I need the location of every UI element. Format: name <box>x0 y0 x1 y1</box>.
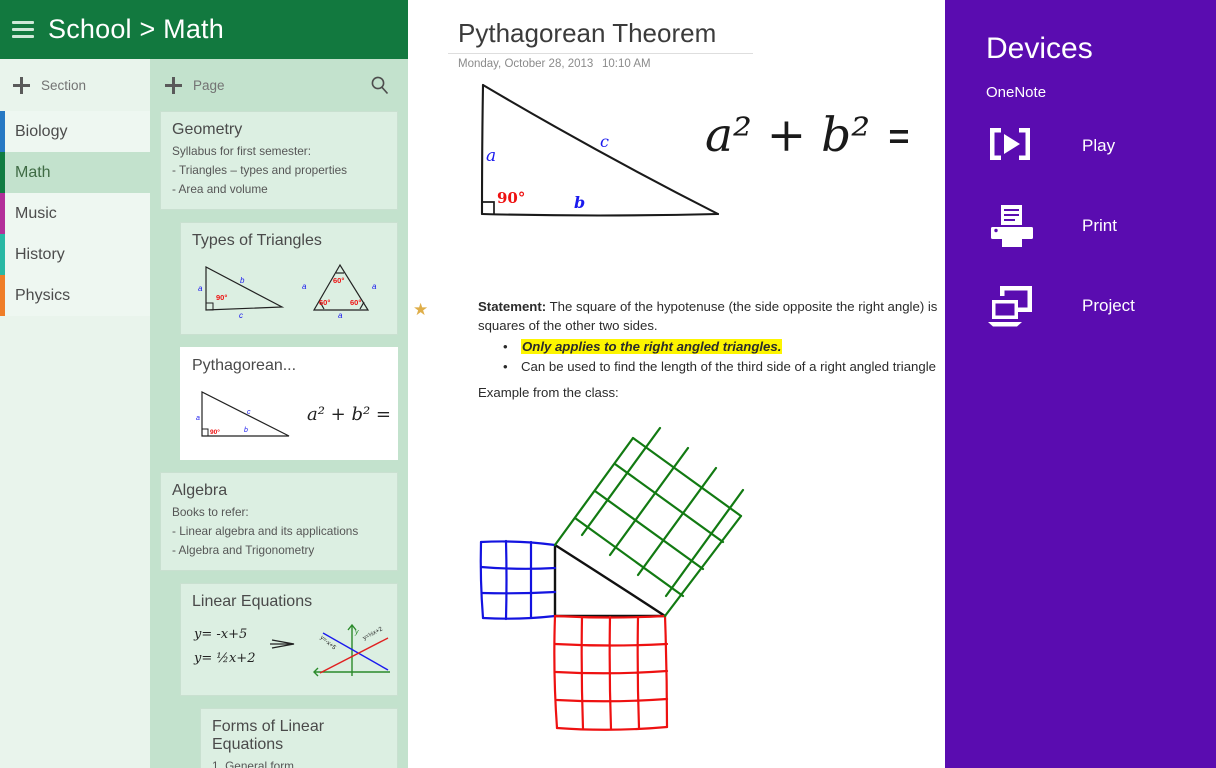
title-divider <box>448 53 753 54</box>
devices-app-name: OneNote <box>986 84 1046 101</box>
page-card-line: Syllabus for first semester: <box>172 142 386 161</box>
page-card-title: Forms of Linear Equations <box>212 718 386 754</box>
printer-icon <box>986 200 1038 252</box>
page-card-line: - Triangles – types and properties <box>172 161 386 180</box>
statement-line1: The square of the hypotenuse (the side o… <box>546 299 937 314</box>
svg-text:y=½x+2: y=½x+2 <box>362 625 385 642</box>
device-label: Print <box>1082 216 1117 236</box>
device-item-print[interactable]: Print <box>986 200 1117 252</box>
section-color-bar <box>0 193 5 234</box>
add-page-row: Page <box>150 59 408 111</box>
right-triangle-drawing: a c b 90° <box>448 75 738 240</box>
device-label: Play <box>1082 136 1115 156</box>
device-item-play[interactable]: Play <box>986 120 1115 172</box>
svg-text:b: b <box>574 193 585 212</box>
page-card-line: - Area and volume <box>172 180 386 199</box>
sidebar-item-history[interactable]: History <box>0 234 150 275</box>
project-screen-icon <box>986 280 1038 332</box>
hamburger-icon[interactable] <box>12 21 34 38</box>
svg-text:a² + b² = c²: a² + b² = c² <box>307 404 392 425</box>
svg-text:c: c <box>247 409 251 416</box>
svg-text:90°: 90° <box>210 428 220 436</box>
svg-text:90°: 90° <box>497 189 525 207</box>
list-item: Only applies to the right angled triangl… <box>501 337 945 357</box>
device-item-project[interactable]: Project <box>986 280 1135 332</box>
list-item[interactable]: Forms of Linear Equations 1. General for… <box>200 708 398 768</box>
statement-bullets: Only applies to the right angled triangl… <box>501 337 945 377</box>
svg-text:y= -x+5: y= -x+5 <box>193 627 247 642</box>
sidebar-item-label: History <box>15 246 65 264</box>
sidebar-item-math[interactable]: Math <box>0 152 150 193</box>
sidebar-item-physics[interactable]: Physics <box>0 275 150 316</box>
statement-label: Statement: <box>478 299 546 314</box>
star-icon: ★ <box>413 301 431 319</box>
svg-text:c: c <box>239 311 243 319</box>
svg-text:a: a <box>372 282 377 291</box>
sidebar-item-label: Math <box>15 164 51 182</box>
breadcrumb: School > Math <box>48 14 224 45</box>
page-title[interactable]: Pythagorean Theorem <box>458 18 716 49</box>
page-card-title: Geometry <box>172 121 386 139</box>
sidebar-item-biology[interactable]: Biology <box>0 111 150 152</box>
section-color-bar <box>0 275 5 316</box>
svg-text:a: a <box>338 311 343 319</box>
svg-text:a: a <box>486 146 496 166</box>
devices-title: Devices <box>986 32 1093 66</box>
statement-text: Statement: The square of the hypotenuse … <box>478 297 945 335</box>
devices-charm-panel: Devices OneNote Play Print <box>945 0 1216 768</box>
list-item[interactable]: Geometry Syllabus for first semester: - … <box>160 111 398 210</box>
bullet-text: Can be used to find the length of the th… <box>521 359 936 374</box>
section-color-bar <box>0 152 5 193</box>
device-label: Project <box>1082 296 1135 316</box>
svg-text:a: a <box>302 282 307 291</box>
example-label: Example from the class: <box>478 385 619 400</box>
triangle-formula-thumbnail: a c b 90° a² + b² = c² <box>192 382 392 444</box>
svg-text:60°: 60° <box>333 276 344 285</box>
onenote-app-window: School > Math Section Biology Math Music… <box>0 0 1216 768</box>
page-card-title: Algebra <box>172 482 386 500</box>
page-date: Monday, October 28, 2013 <box>458 58 593 70</box>
plus-icon <box>13 77 30 94</box>
sidebar-item-label: Physics <box>15 287 70 305</box>
section-color-bar <box>0 234 5 275</box>
page-list-panel: Page Geometry Syllabus for first semeste… <box>150 59 408 768</box>
statement-line2: squares of the other two sides. <box>478 316 945 335</box>
linear-graph-thumbnail: y= -x+5 y= ½x+2 y=-x+5 y=½x+2 y <box>192 618 397 680</box>
sidebar-item-music[interactable]: Music <box>0 193 150 234</box>
sidebar-item-label: Music <box>15 205 57 223</box>
page-card-title: Linear Equations <box>192 593 386 611</box>
pythagorean-squares-drawing <box>443 420 763 760</box>
note-page-canvas[interactable]: Pythagorean Theorem Monday, October 28, … <box>408 0 945 768</box>
svg-text:a: a <box>196 415 200 422</box>
page-card-title: Pythagorean... <box>192 357 386 375</box>
page-card-line: Books to refer: <box>172 503 386 522</box>
highlighted-bullet-text: Only applies to the right angled triangl… <box>521 339 782 354</box>
list-item: Can be used to find the length of the th… <box>501 357 945 377</box>
page-card-title: Types of Triangles <box>192 232 386 250</box>
two-triangles-thumbnail: a b c 90° a a a 60° 60° 60° <box>192 257 392 319</box>
svg-text:60°: 60° <box>319 298 330 307</box>
search-icon[interactable] <box>370 75 390 95</box>
svg-text:60°: 60° <box>350 298 361 307</box>
play-device-icon <box>986 120 1038 172</box>
page-card-line: - Algebra and Trigonometry <box>172 541 386 560</box>
svg-text:90°: 90° <box>216 293 227 302</box>
page-card-line: - Linear algebra and its applications <box>172 522 386 541</box>
list-item[interactable]: Linear Equations y= -x+5 y= ½x+2 y=-x+5 … <box>180 583 398 696</box>
add-section-button[interactable]: Section <box>0 59 150 111</box>
svg-text:c: c <box>600 132 609 151</box>
svg-text:y: y <box>354 629 359 636</box>
svg-text:y=-x+5: y=-x+5 <box>319 635 337 652</box>
section-color-bar <box>0 111 5 152</box>
add-page-label: Page <box>193 78 225 93</box>
list-item[interactable]: Types of Triangles a b c 90° a a a <box>180 222 398 335</box>
svg-text:a: a <box>198 284 203 293</box>
svg-text:b: b <box>244 427 248 434</box>
list-item[interactable]: Algebra Books to refer: - Linear algebra… <box>160 472 398 571</box>
svg-text:a² + b² = c²: a² + b² = c² <box>705 108 908 163</box>
app-title-bar: School > Math <box>0 0 410 59</box>
page-time: 10:10 AM <box>602 58 651 70</box>
plus-icon[interactable] <box>165 77 182 94</box>
add-section-label: Section <box>41 78 86 93</box>
pythagorean-formula-ink: a² + b² = c² <box>703 95 908 167</box>
svg-text:y= ½x+2: y= ½x+2 <box>193 651 255 666</box>
section-list-panel: Section Biology Math Music History Physi… <box>0 59 150 768</box>
sidebar-item-label: Biology <box>15 123 67 141</box>
list-item-active[interactable]: Pythagorean... a c b 90° a² + b² = c² <box>180 347 398 460</box>
page-card-line: 1. General form <box>212 757 386 768</box>
svg-text:b: b <box>240 276 245 285</box>
